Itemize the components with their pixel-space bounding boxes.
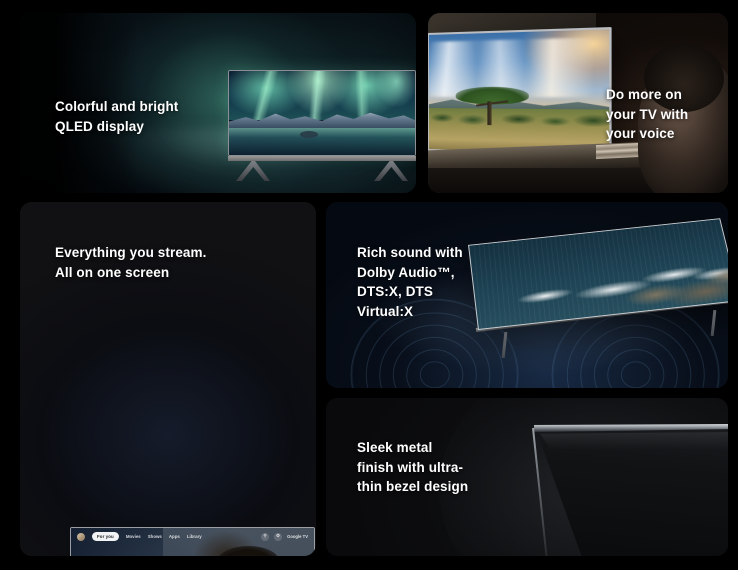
tv-bottom-bezel (228, 156, 416, 161)
gtv-nav-item-shows[interactable]: Shows (148, 534, 162, 539)
panel-colorful-bright-qled-display[interactable]: Colorful and bright QLED display (20, 13, 416, 193)
gtv-nav-item-library[interactable]: Library (187, 534, 202, 539)
gtv-nav-item-for-you[interactable]: For you (92, 532, 119, 540)
panel-title-sleek: Sleek metal finish with ultra- thin beze… (357, 438, 468, 497)
panel-do-more-with-voice[interactable]: Do more on your TV with your voice (428, 13, 728, 193)
tv-panel-gloss (540, 432, 728, 450)
tv-stand-leg-left (236, 161, 270, 181)
aurora-water-reflection (229, 128, 415, 155)
panel-title-stream: Everything you stream. All on one screen (55, 243, 207, 282)
gear-icon[interactable]: ⚙ (274, 533, 282, 541)
tv-screen-aurora (228, 70, 416, 156)
tv-stand-leg-right (374, 161, 408, 181)
aurora-scene (229, 71, 415, 155)
gtv-nav-item-apps[interactable]: Apps (169, 534, 180, 539)
tv-screen-google-tv: For you Movies Shows Apps Library ⚲ ⚙ Go… (70, 527, 315, 556)
avatar[interactable] (77, 533, 85, 541)
panel-everything-you-stream[interactable]: For you Movies Shows Apps Library ⚲ ⚙ Go… (20, 202, 316, 556)
feature-grid: Colorful and bright QLED display Do more… (0, 0, 738, 570)
gtv-top-nav[interactable]: For you Movies Shows Apps Library ⚲ ⚙ Go… (71, 531, 314, 542)
acacia-tree (456, 87, 530, 126)
tv-stream-unit: For you Movies Shows Apps Library ⚲ ⚙ Go… (70, 527, 315, 556)
panel-sleek-metal-ultra-thin-bezel[interactable]: Sleek metal finish with ultra- thin beze… (326, 398, 728, 556)
tv-screen-savanna (428, 27, 612, 157)
panel-title-qled: Colorful and bright QLED display (55, 97, 178, 136)
gtv-nav-item-movies[interactable]: Movies (126, 534, 141, 539)
google-tv-home-ui: For you Movies Shows Apps Library ⚲ ⚙ Go… (71, 528, 314, 556)
tree-trunk (487, 102, 491, 125)
panel-rich-sound-dolby-dts[interactable]: Rich sound with Dolby Audio™, DTS:X, DTS… (326, 202, 728, 388)
panel-title-voice: Do more on your TV with your voice (606, 85, 688, 144)
aurora-sky (229, 71, 415, 120)
tv-aurora-unit (228, 70, 416, 182)
gtv-nav-right-group: ⚲ ⚙ Google TV (261, 533, 308, 541)
stacked-books (596, 143, 641, 160)
panel-title-sound: Rich sound with Dolby Audio™, DTS:X, DTS… (357, 243, 463, 321)
search-icon[interactable]: ⚲ (261, 533, 269, 541)
gtv-brand-label: Google TV (287, 534, 308, 539)
